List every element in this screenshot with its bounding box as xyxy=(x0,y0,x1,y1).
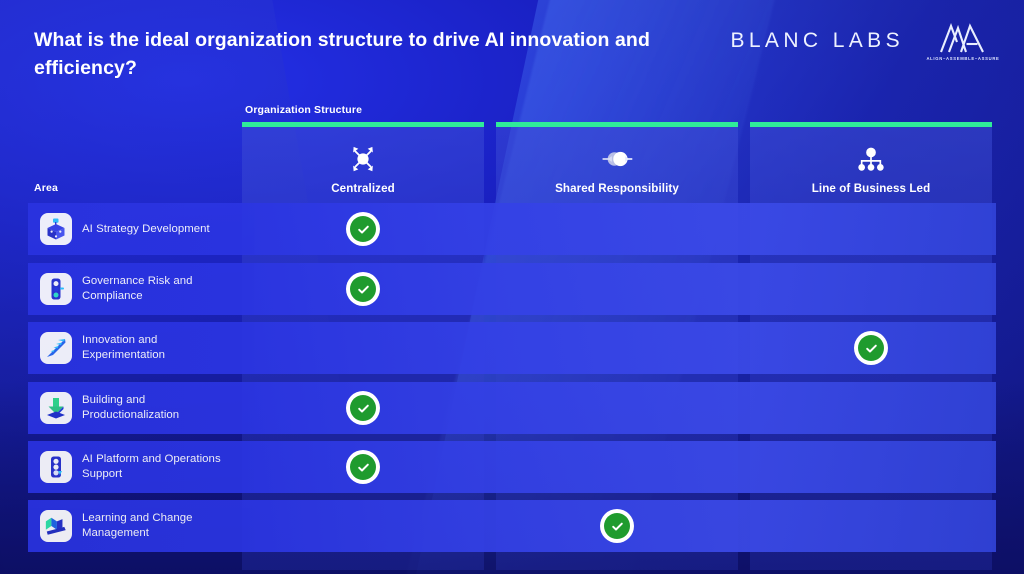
table-row[interactable]: Building and Productionalization xyxy=(28,382,996,434)
row-label: AI Strategy Development xyxy=(82,222,210,237)
row-label: Governance Risk and Compliance xyxy=(82,274,240,303)
blanc-labs-monogram-icon: ALIGN–ASSEMBLE–ASSURE xyxy=(924,22,1002,74)
check-icon xyxy=(350,395,376,421)
check-icon xyxy=(858,335,884,361)
brand-wordmark: BLANC LABS xyxy=(730,29,904,53)
logo-tagline: ALIGN–ASSEMBLE–ASSURE xyxy=(926,56,999,61)
check-badge xyxy=(854,331,888,365)
slide-canvas: What is the ideal organization structure… xyxy=(0,0,1024,574)
column-header: Line of Business Led xyxy=(750,127,992,203)
column-title: Line of Business Led xyxy=(812,182,931,195)
check-icon xyxy=(350,454,376,480)
check-icon xyxy=(350,276,376,302)
check-badge xyxy=(346,272,380,306)
row-label: Learning and Change Management xyxy=(82,511,240,540)
org-hierarchy-icon xyxy=(856,142,886,176)
shared-exchange-icon xyxy=(600,142,634,176)
row-label-cell: Building and Productionalization xyxy=(28,382,240,434)
learning-chart-icon xyxy=(40,510,72,542)
slide-header: What is the ideal organization structure… xyxy=(0,0,1024,96)
check-badge xyxy=(346,391,380,425)
centralized-hub-icon xyxy=(348,142,378,176)
governance-traffic-light-icon xyxy=(40,273,72,305)
row-label-cell: Learning and Change Management xyxy=(28,500,240,552)
column-header: Shared Responsibility xyxy=(496,127,738,203)
row-label-cell: AI Platform and Operations Support xyxy=(28,441,240,493)
ai-cube-icon xyxy=(40,213,72,245)
page-title: What is the ideal organization structure… xyxy=(34,27,654,82)
deploy-download-icon xyxy=(40,392,72,424)
check-badge xyxy=(346,212,380,246)
check-icon xyxy=(350,216,376,242)
platform-stack-icon xyxy=(40,451,72,483)
row-label: AI Platform and Operations Support xyxy=(82,452,240,481)
row-label-cell: AI Strategy Development xyxy=(28,203,240,255)
column-title: Shared Responsibility xyxy=(555,182,679,195)
table-row[interactable]: AI Strategy Development xyxy=(28,203,996,255)
check-badge xyxy=(346,450,380,484)
row-label: Innovation and Experimentation xyxy=(82,333,240,362)
column-title: Centralized xyxy=(331,182,395,195)
row-label-cell: Innovation and Experimentation xyxy=(28,322,240,374)
table-row[interactable]: Innovation and Experimentation xyxy=(28,322,996,374)
table-row[interactable]: AI Platform and Operations Support xyxy=(28,441,996,493)
row-label: Building and Productionalization xyxy=(82,393,240,422)
innovation-rocket-icon xyxy=(40,332,72,364)
row-group-label: Area xyxy=(34,182,58,194)
row-label-cell: Governance Risk and Compliance xyxy=(28,263,240,315)
check-icon xyxy=(604,513,630,539)
check-badge xyxy=(600,509,634,543)
column-group-label: Organization Structure xyxy=(245,104,362,116)
column-header: Centralized xyxy=(242,127,484,203)
table-row[interactable]: Governance Risk and Compliance xyxy=(28,263,996,315)
table-row[interactable]: Learning and Change Management xyxy=(28,500,996,552)
